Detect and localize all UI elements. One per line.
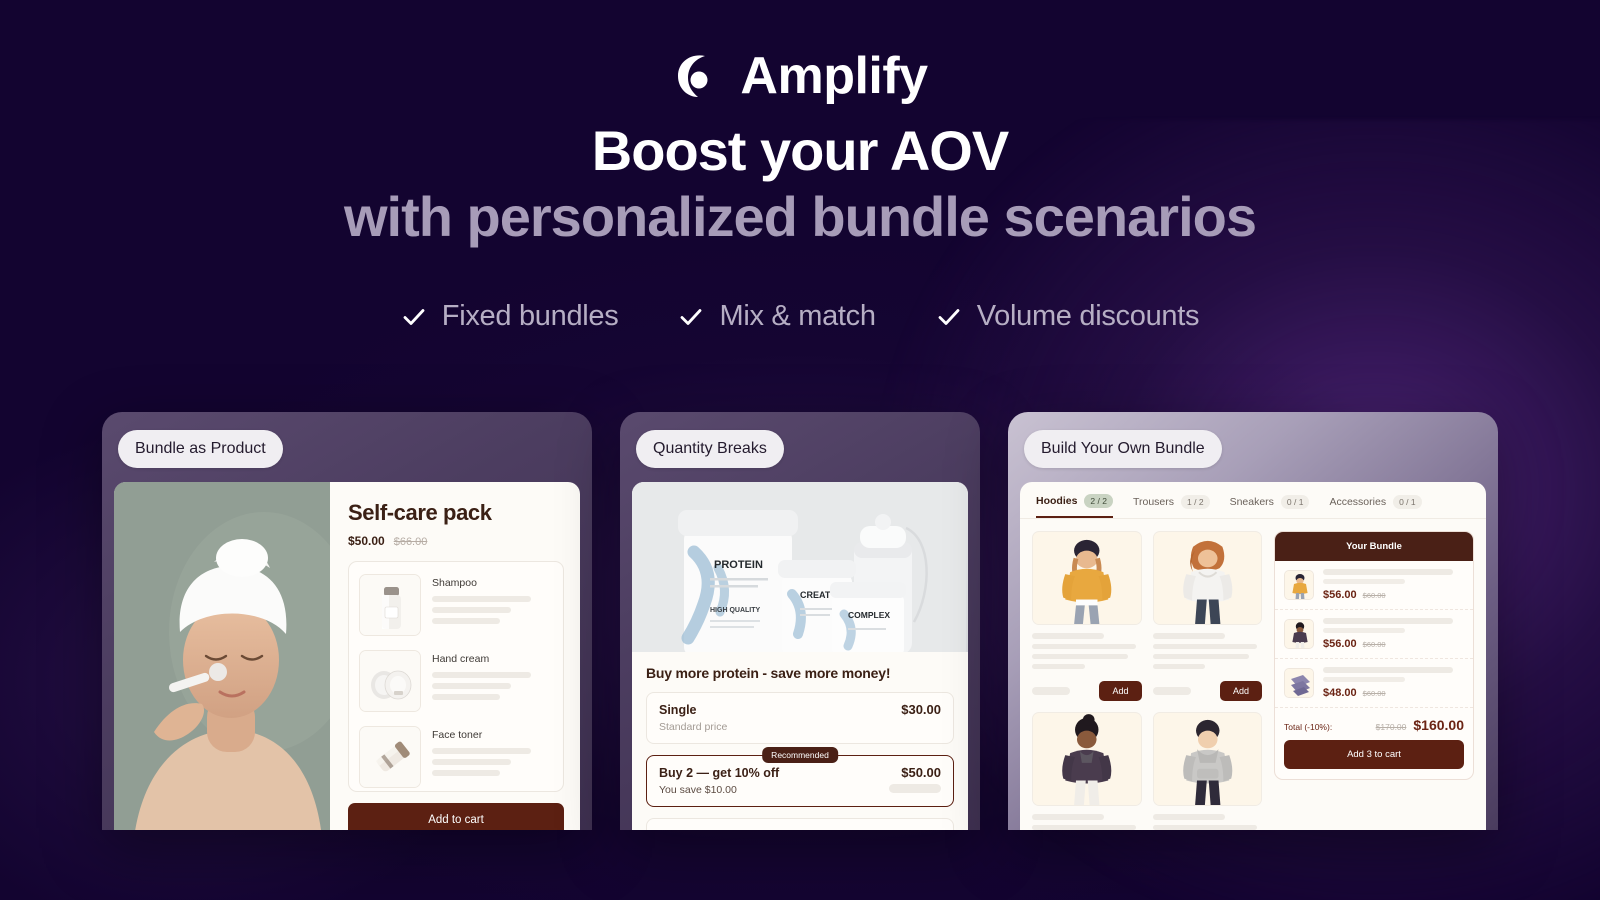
bundle-item-name: Hand cream	[432, 653, 553, 665]
feature-label: Mix & match	[719, 300, 875, 333]
skeleton-line	[432, 607, 511, 613]
bundle-item-name: Face toner	[432, 729, 553, 741]
tab-hoodies[interactable]: Hoodies 2 / 2	[1036, 494, 1113, 518]
headline-line-1: Boost your AOV	[0, 118, 1600, 184]
summary-item-compare-price: $60.00	[1363, 591, 1386, 600]
bundle-items-list: Shampoo	[348, 561, 564, 792]
add-to-cart-button[interactable]: Add to cart	[348, 803, 564, 830]
skeleton-line	[1323, 579, 1405, 584]
skeleton-line	[432, 672, 531, 678]
tab-sneakers[interactable]: Sneakers 0 / 1	[1230, 495, 1310, 517]
add-product-button[interactable]: Add	[1099, 681, 1141, 701]
skeleton-line	[1032, 814, 1104, 820]
skeleton-line	[1032, 687, 1070, 695]
recommended-badge: Recommended	[762, 747, 838, 763]
feature-label: Volume discounts	[977, 300, 1200, 333]
summary-item: $48.00 $60.00	[1275, 659, 1473, 708]
feature-list: Fixed bundles Mix & match Volume discoun…	[0, 300, 1600, 333]
bundle-compare-price: $66.00	[394, 536, 428, 548]
kid-gray-hoodie-icon	[1153, 712, 1263, 806]
quantity-tier-buy-3[interactable]: Buy 3 — get 20% off $70.00 You save $20.…	[646, 818, 954, 830]
tab-count-badge: 0 / 1	[1393, 495, 1422, 509]
bundle-item: Hand cream	[357, 646, 555, 722]
skeleton-line	[1032, 654, 1128, 659]
bundle-price: $50.00	[348, 534, 385, 548]
summary-item-price: $56.00	[1323, 589, 1357, 601]
kid-purple-hoodie-icon	[1032, 712, 1142, 806]
folded-trousers-icon	[1284, 668, 1314, 698]
skeleton-line	[889, 784, 941, 793]
card-pill-label: Bundle as Product	[118, 430, 283, 468]
skeleton-line	[1323, 667, 1453, 673]
skeleton-line	[1153, 814, 1225, 820]
svg-text:PROTEIN: PROTEIN	[714, 559, 763, 571]
card-quantity-breaks: Quantity Breaks	[620, 412, 980, 830]
quantity-tier-buy-2[interactable]: Recommended Buy 2 — get 10% off $50.00 Y…	[646, 755, 954, 807]
tab-count-badge: 0 / 1	[1281, 495, 1310, 509]
skeleton-line	[1323, 628, 1405, 633]
protein-tubs-illustration-icon: PROTEIN HIGH QUALITY CREAT	[632, 482, 966, 652]
add-product-button[interactable]: Add	[1220, 681, 1262, 701]
tier-price: $70.00	[901, 828, 941, 830]
feature-item-fixed-bundles: Fixed bundles	[401, 300, 619, 333]
summary-item: $56.00 $60.00	[1275, 561, 1473, 610]
skeleton-line	[1153, 654, 1249, 659]
skeleton-line	[1153, 825, 1257, 830]
skeleton-line	[1323, 618, 1453, 624]
woman-skincare-illustration-icon	[114, 482, 330, 830]
card-build-your-own-bundle: Build Your Own Bundle Hoodies 2 / 2 Trou…	[1008, 412, 1498, 830]
check-icon	[936, 304, 962, 330]
bundle-item: Shampoo	[357, 570, 555, 646]
brand-name: Amplify	[740, 50, 927, 102]
summary-total-old: $170.00	[1376, 722, 1407, 732]
card-bundle-as-product: Bundle as Product	[102, 412, 592, 830]
add-bundle-to-cart-button[interactable]: Add 3 to cart	[1284, 740, 1464, 769]
shampoo-bottle-icon	[359, 574, 421, 636]
bundle-summary-panel: Your Bundle	[1274, 531, 1474, 780]
tab-label: Hoodies	[1036, 495, 1077, 507]
feature-item-mix-and-match: Mix & match	[678, 300, 875, 333]
bundle-item: Face toner	[357, 722, 555, 792]
tab-label: Sneakers	[1230, 496, 1274, 508]
check-icon	[401, 304, 427, 330]
product-card[interactable]: Add	[1032, 712, 1142, 830]
scenario-cards: Bundle as Product	[0, 412, 1600, 830]
skeleton-line	[1323, 677, 1405, 682]
tier-name: Buy 2 — get 10% off	[659, 766, 779, 780]
card-pill-label: Quantity Breaks	[636, 430, 784, 468]
check-icon	[678, 304, 704, 330]
card-panel: Hoodies 2 / 2 Trousers 1 / 2 Sneakers 0 …	[1020, 482, 1486, 830]
page-title: Boost your AOV with personalized bundle …	[0, 118, 1600, 250]
tab-label: Trousers	[1133, 496, 1174, 508]
skeleton-line	[1032, 633, 1104, 639]
skeleton-line	[432, 759, 511, 765]
product-card[interactable]: Add	[1153, 712, 1263, 830]
skeleton-line	[432, 748, 531, 754]
tier-subtitle: You save $10.00	[659, 784, 737, 796]
skeleton-line	[1032, 664, 1085, 669]
summary-item-price: $56.00	[1323, 638, 1357, 650]
summary-total-row: Total (-10%): $170.00 $160.00	[1275, 708, 1473, 740]
skeleton-line	[1032, 825, 1136, 830]
summary-item: $56.00 $60.00	[1275, 610, 1473, 659]
protein-products-photo: PROTEIN HIGH QUALITY CREAT	[632, 482, 968, 652]
summary-item-compare-price: $60.00	[1363, 689, 1386, 698]
product-hero-photo	[114, 482, 330, 830]
svg-text:CREAT: CREAT	[800, 590, 831, 600]
skeleton-line	[432, 770, 500, 776]
bundle-title: Self-care pack	[348, 500, 564, 526]
face-toner-bottle-icon	[359, 726, 421, 788]
skeleton-line	[432, 694, 500, 700]
card-pill-label: Build Your Own Bundle	[1024, 430, 1222, 468]
tab-count-badge: 2 / 2	[1084, 494, 1113, 508]
tab-accessories[interactable]: Accessories 0 / 1	[1329, 495, 1421, 517]
skeleton-line	[1323, 569, 1453, 575]
skeleton-line	[1153, 664, 1206, 669]
summary-total-label: Total (-10%):	[1284, 722, 1332, 732]
tab-label: Accessories	[1329, 496, 1386, 508]
tab-count-badge: 1 / 2	[1181, 495, 1210, 509]
kid-yellow-hoodie-icon	[1284, 570, 1314, 600]
category-tabs: Hoodies 2 / 2 Trousers 1 / 2 Sneakers 0 …	[1020, 482, 1486, 519]
svg-text:COMPLEX: COMPLEX	[848, 610, 890, 620]
card-panel: Self-care pack $50.00 $66.00	[114, 482, 580, 830]
skeleton-line	[1153, 633, 1225, 639]
feature-label: Fixed bundles	[442, 300, 619, 333]
tier-price: $30.00	[901, 702, 941, 717]
tab-trousers[interactable]: Trousers 1 / 2	[1133, 495, 1210, 517]
brand-logo: Amplify	[0, 50, 1600, 102]
hand-cream-jar-icon	[359, 650, 421, 712]
skeleton-line	[432, 683, 511, 689]
summary-item-compare-price: $60.00	[1363, 640, 1386, 649]
feature-item-volume-discounts: Volume discounts	[936, 300, 1200, 333]
skeleton-line	[432, 596, 531, 602]
summary-total-new: $160.00	[1413, 717, 1464, 733]
product-card[interactable]: Add	[1032, 531, 1142, 701]
kid-white-hoodie-icon	[1153, 531, 1263, 625]
skeleton-line	[1153, 644, 1257, 649]
kid-purple-hoodie-icon	[1284, 619, 1314, 649]
tier-price: $50.00	[901, 765, 941, 780]
product-card[interactable]: Add	[1153, 531, 1263, 701]
kid-yellow-hoodie-icon	[1032, 531, 1142, 625]
promo-banner: Amplify Boost your AOV with personalized…	[0, 0, 1600, 900]
skeleton-line	[1032, 644, 1136, 649]
product-grid: Add	[1032, 531, 1262, 819]
bundle-item-name: Shampoo	[432, 577, 553, 589]
card-panel: PROTEIN HIGH QUALITY CREAT	[632, 482, 968, 830]
amplify-swirl-icon	[672, 50, 724, 102]
tier-name: Single	[659, 703, 697, 717]
quantity-breaks-title: Buy more protein - save more money!	[646, 665, 954, 681]
summary-item-price: $48.00	[1323, 687, 1357, 699]
headline-line-2: with personalized bundle scenarios	[0, 184, 1600, 250]
tier-name: Buy 3 — get 20% off	[659, 829, 779, 830]
summary-title: Your Bundle	[1275, 532, 1473, 561]
svg-text:HIGH QUALITY: HIGH QUALITY	[710, 607, 760, 614]
skeleton-line	[432, 618, 500, 624]
tier-subtitle: Standard price	[659, 721, 941, 733]
bundle-price-row: $50.00 $66.00	[348, 534, 564, 548]
quantity-tier-single[interactable]: Single $30.00 Standard price	[646, 692, 954, 744]
skeleton-line	[1153, 687, 1191, 695]
